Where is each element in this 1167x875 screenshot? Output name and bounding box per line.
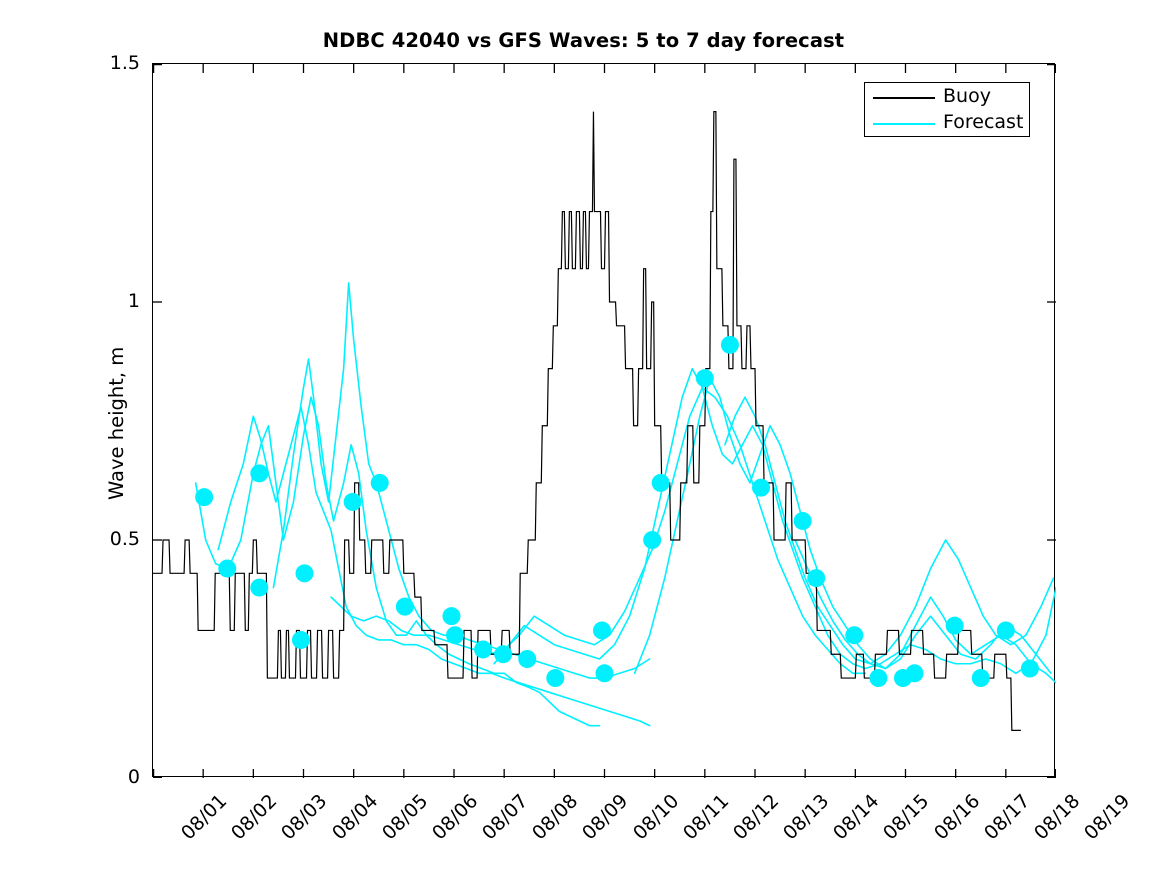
x-tick-label: 08/11: [679, 790, 733, 844]
x-tick-label: 08/04: [328, 790, 382, 844]
x-tick-label: 08/14: [829, 790, 883, 844]
x-tick-label: 08/06: [428, 790, 482, 844]
y-tick-label: 1: [0, 290, 140, 312]
figure-canvas: NDBC 42040 vs GFS Waves: 5 to 7 day fore…: [0, 0, 1167, 875]
legend-label-buoy: Buoy: [943, 85, 991, 107]
chart-canvas: [153, 64, 1056, 778]
y-tick-label: 0: [0, 766, 140, 788]
x-tick-label: 08/01: [177, 790, 231, 844]
x-tick-label: 08/15: [879, 790, 933, 844]
legend-item-buoy: Buoy: [865, 84, 1031, 111]
legend: Buoy Forecast: [864, 82, 1030, 137]
x-tick-label: 08/03: [277, 790, 331, 844]
plot-area: [152, 63, 1055, 777]
legend-label-forecast: Forecast: [943, 111, 1023, 133]
buoy-series: [153, 112, 1021, 731]
forecast-series: [196, 283, 1056, 726]
x-tick-label: 08/08: [528, 790, 582, 844]
y-tick-label: 1.5: [0, 52, 140, 74]
y-tick-label: 0.5: [0, 528, 140, 550]
x-tick-label: 08/05: [378, 790, 432, 844]
x-tick-label: 08/12: [729, 790, 783, 844]
x-tick-label: 08/07: [478, 790, 532, 844]
x-tick-label: 08/13: [779, 790, 833, 844]
x-tick-label: 08/02: [227, 790, 281, 844]
x-tick-label: 08/17: [980, 790, 1034, 844]
legend-item-forecast: Forecast: [865, 110, 1031, 137]
y-axis-label-text: Wave height, m: [105, 347, 128, 500]
x-tick-label: 08/18: [1030, 790, 1084, 844]
legend-swatch-forecast: [873, 123, 935, 125]
page-title: NDBC 42040 vs GFS Waves: 5 to 7 day fore…: [0, 29, 1167, 52]
x-tick-label: 08/10: [629, 790, 683, 844]
x-tick-label: 08/09: [578, 790, 632, 844]
x-tick-label: 08/16: [930, 790, 984, 844]
x-tick-label: 08/19: [1080, 790, 1134, 844]
legend-swatch-buoy: [873, 97, 935, 99]
